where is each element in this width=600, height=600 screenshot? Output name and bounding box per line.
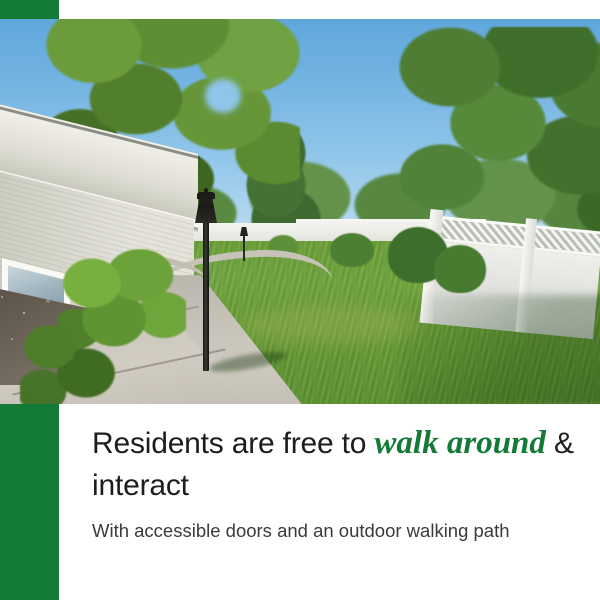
right-tree-canopy: [390, 27, 600, 237]
caption-panel: Residents are free to walk around & inte…: [0, 404, 600, 600]
top-green-accent-bar: [0, 0, 59, 19]
lawn-light-patch: [240, 305, 420, 345]
canopy-sky-gap: [205, 79, 241, 113]
shrub: [330, 233, 374, 267]
left-green-accent-bar: [0, 404, 59, 600]
promo-card: Sunny residential backyard lawn with a w…: [0, 0, 600, 600]
lawn-shadow: [400, 295, 600, 404]
headline-part-1: Residents are free to: [92, 427, 374, 460]
hero-photo: Sunny residential backyard lawn with a w…: [0, 19, 600, 404]
shrub-large: [434, 245, 486, 293]
subheadline: With accessible doors and an outdoor wal…: [92, 519, 532, 544]
lamp-post-pole: [203, 219, 209, 371]
foreground-bush: [20, 319, 116, 404]
headline: Residents are free to walk around & inte…: [92, 422, 584, 505]
background-lamp-post-pole: [243, 233, 245, 261]
lamp-post-finial: [204, 188, 208, 193]
lamp-post-cap: [197, 192, 215, 199]
headline-emphasis: walk around: [374, 425, 545, 461]
